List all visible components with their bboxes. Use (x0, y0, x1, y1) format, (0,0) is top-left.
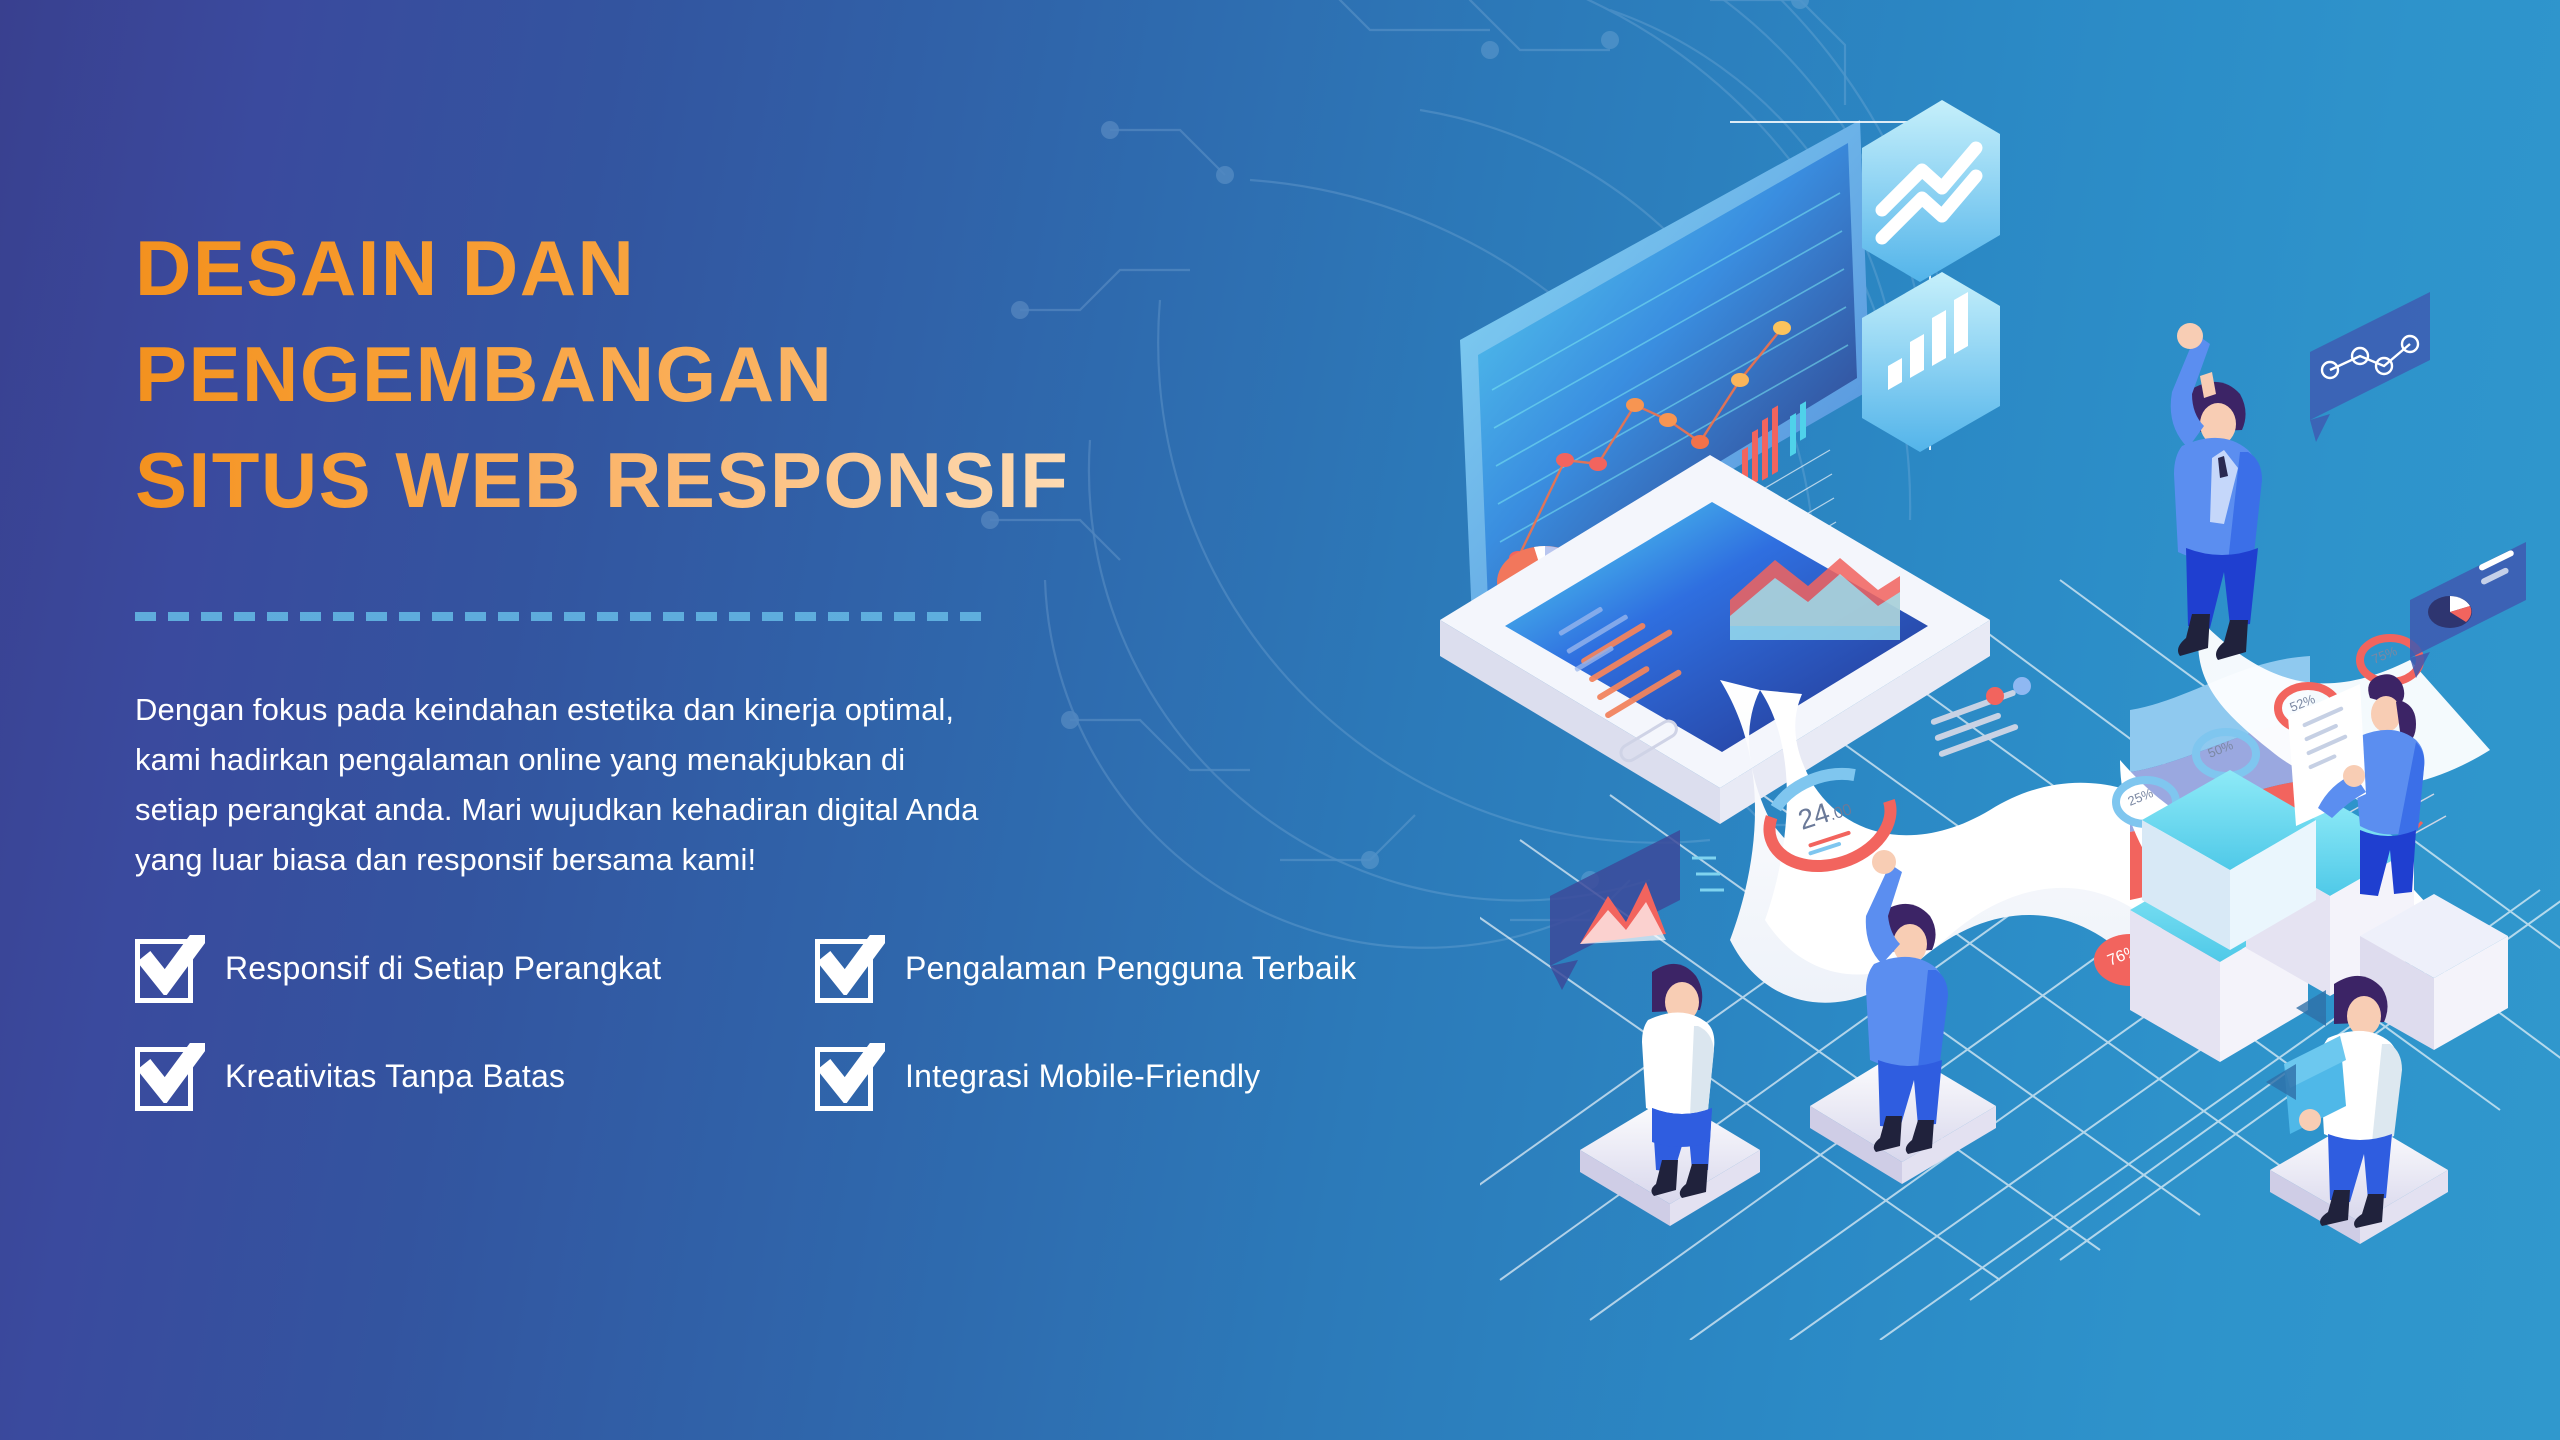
feature-label: Pengalaman Pengguna Terbaik (905, 950, 1356, 987)
description-paragraph: Dengan fokus pada keindahan estetika dan… (135, 685, 1195, 885)
mountain-chart-bubble (1550, 830, 1724, 990)
pie-chart-bubble (2410, 542, 2526, 678)
headline-line-2: PENGEMBANGAN (135, 321, 1455, 427)
checkbox-checked-icon (815, 935, 881, 1001)
feature-item-kreativitas[interactable]: Kreativitas Tanpa Batas (135, 1043, 815, 1109)
description-line-2: kami hadirkan pengalaman online yang men… (135, 735, 1195, 785)
illustration: 24.00 (1430, 60, 2560, 1380)
checkbox-checked-icon (135, 935, 201, 1001)
scatter-line-bubble (2310, 292, 2430, 442)
headline-line-3: SITUS WEB RESPONSIF (135, 427, 1455, 533)
svg-text:75%: 75% (2370, 643, 2400, 667)
person-standing-white-shirt (1580, 964, 1760, 1226)
description-line-4: yang luar biasa dan responsif bersama ka… (135, 835, 1195, 885)
feature-item-responsif[interactable]: Responsif di Setiap Perangkat (135, 935, 815, 1001)
hero-banner: 24.00 (0, 0, 2560, 1440)
feature-row-2: Kreativitas Tanpa Batas Integrasi Mobile… (135, 1043, 1435, 1109)
feature-label: Kreativitas Tanpa Batas (225, 1058, 565, 1095)
feature-row-1: Responsif di Setiap Perangkat Pengalaman… (135, 935, 1435, 1001)
feature-label: Responsif di Setiap Perangkat (225, 950, 661, 987)
person-on-pedestal-pointing-up (2142, 323, 2316, 950)
feature-item-integrasi[interactable]: Integrasi Mobile-Friendly (815, 1043, 1435, 1109)
headline-line-1: DESAIN DAN (135, 215, 1455, 321)
checkbox-checked-icon (815, 1043, 881, 1109)
page-title: DESAIN DAN PENGEMBANGAN SITUS WEB RESPON… (135, 215, 1455, 533)
feature-item-pengalaman[interactable]: Pengalaman Pengguna Terbaik (815, 935, 1435, 1001)
line-chart-card (1862, 100, 2000, 282)
description-line-1: Dengan fokus pada keindahan estetika dan… (135, 685, 1195, 735)
description-line-3: setiap perangkat anda. Mari wujudkan keh… (135, 785, 1195, 835)
feature-label: Integrasi Mobile-Friendly (905, 1058, 1260, 1095)
feature-list: Responsif di Setiap Perangkat Pengalaman… (135, 935, 1435, 1109)
checkbox-checked-icon (135, 1043, 201, 1109)
content-column: DESAIN DAN PENGEMBANGAN SITUS WEB RESPON… (135, 0, 1435, 1440)
dashed-divider (135, 612, 990, 621)
bar-chart-card (1862, 272, 2000, 452)
